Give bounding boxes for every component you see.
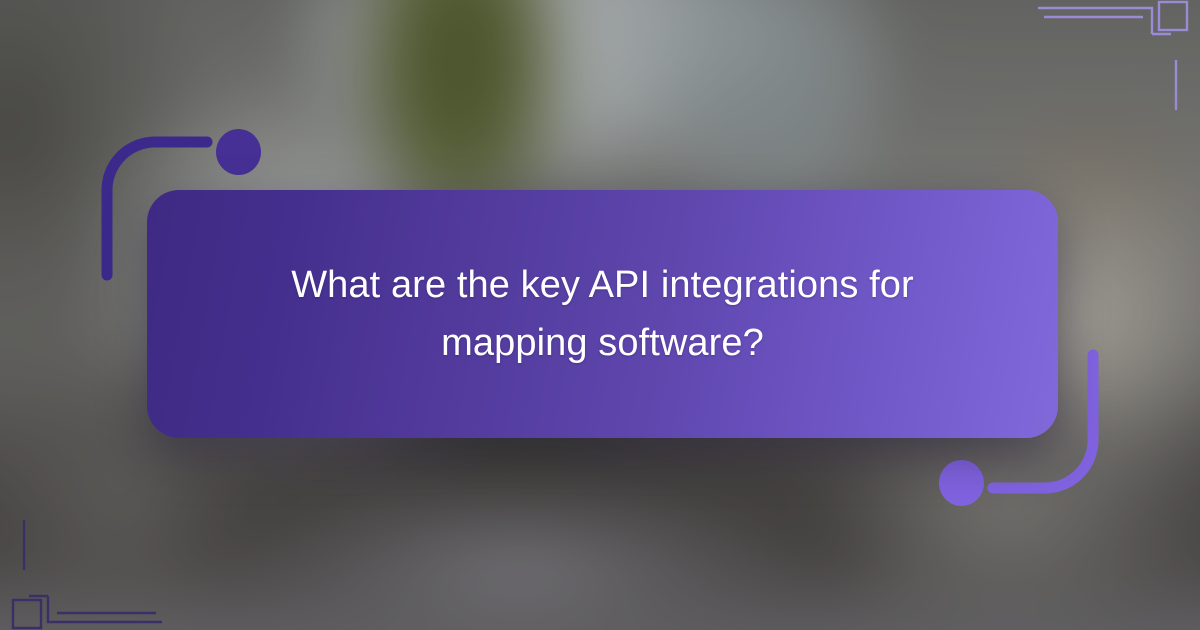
circuit-trace-ornament-top-right [1030,0,1200,110]
question-card: What are the key API integrations for ma… [147,190,1058,438]
question-card-banner: What are the key API integrations for ma… [0,0,1200,630]
circuit-trace-ornament-bottom-left [0,520,170,630]
accent-dot-bottom-right-icon [939,460,984,506]
question-text: What are the key API integrations for ma… [283,256,923,372]
accent-dot-top-left-icon [216,129,261,175]
